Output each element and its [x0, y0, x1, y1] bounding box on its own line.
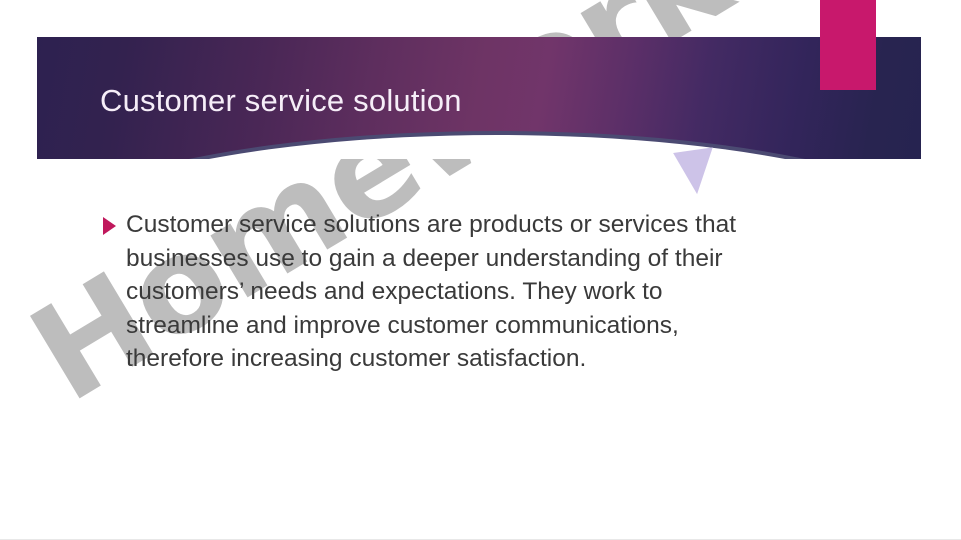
watermark-lavender-tail — [673, 147, 719, 196]
slide-canvas: Homework 24 Customer service solution Cu… — [0, 0, 961, 540]
triangle-bullet-icon — [103, 217, 116, 235]
pink-accent-bar — [820, 0, 876, 90]
body-paragraph: Customer service solutions are products … — [126, 208, 763, 376]
page-title: Customer service solution — [100, 83, 462, 119]
body-bullet-item: Customer service solutions are products … — [103, 208, 763, 376]
slide-header-band: 24 Customer service solution — [37, 37, 921, 159]
